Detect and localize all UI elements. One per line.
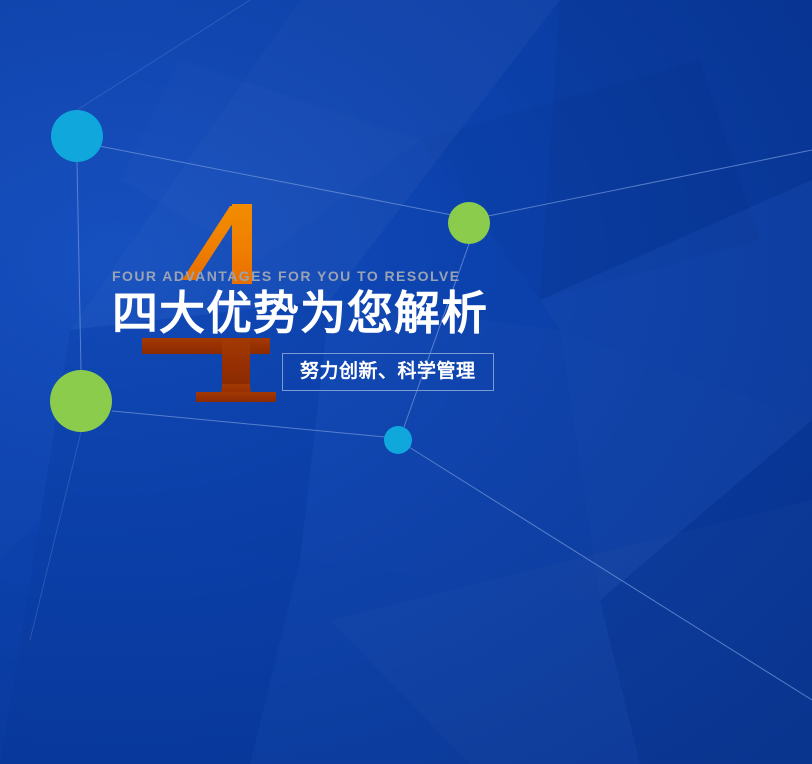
tagline-row: 努力创新、科学管理 — [112, 353, 712, 391]
connector-line — [30, 432, 81, 640]
connector-line — [112, 411, 385, 437]
connector-line — [99, 146, 452, 215]
banner-canvas: FOUR ADVANTAGES FOR YOU TO RESOLVE 四大优势为… — [0, 0, 812, 764]
headline-block: FOUR ADVANTAGES FOR YOU TO RESOLVE 四大优势为… — [112, 268, 712, 391]
page-title: 四大优势为您解析 — [112, 288, 712, 340]
connector-line — [409, 447, 812, 700]
decor-dot-green-small — [448, 202, 490, 244]
connector-line — [77, 0, 250, 110]
decor-dot-cyan-small — [384, 426, 412, 454]
connector-line — [77, 162, 81, 370]
eyebrow-text: FOUR ADVANTAGES FOR YOU TO RESOLVE — [112, 268, 712, 286]
decor-dot-green-large — [50, 370, 112, 432]
tagline-badge: 努力创新、科学管理 — [282, 353, 494, 391]
connector-line — [488, 150, 812, 216]
decor-dot-cyan-large — [51, 110, 103, 162]
